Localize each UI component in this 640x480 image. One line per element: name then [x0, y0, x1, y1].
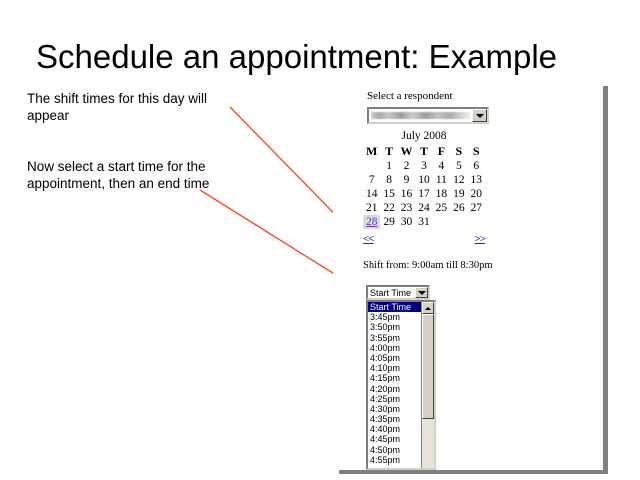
calendar-day-cell[interactable]: 14 [363, 187, 380, 201]
calendar-next-month-link[interactable]: >> [474, 233, 485, 245]
calendar-day-cell[interactable]: 25 [433, 201, 450, 215]
scrollbar-thumb[interactable] [422, 314, 434, 419]
calendar-weekday-row: M T W T F S S [363, 144, 485, 159]
calendar-day-cell[interactable]: 7 [363, 173, 380, 187]
calendar-weekday: M [363, 144, 380, 159]
presentation-slide: Schedule an appointment: Example The shi… [0, 0, 640, 480]
calendar-widget[interactable]: July 2008 M T W T F S S [363, 130, 493, 245]
chevron-down-icon[interactable] [415, 287, 428, 298]
list-item[interactable]: 4:50pm [368, 445, 421, 455]
calendar-day-cell[interactable]: 15 [380, 187, 397, 201]
start-time-option-list[interactable]: Start Time 3:45pm 3:50pm 3:55pm 4:00pm 4… [368, 302, 421, 468]
list-item[interactable]: 3:45pm [368, 312, 421, 322]
calendar-day-cell[interactable] [433, 215, 450, 229]
list-item[interactable]: 4:55pm [368, 455, 421, 465]
calendar-weekday: S [450, 144, 467, 159]
respondent-select[interactable] [367, 107, 489, 124]
calendar-day-cell[interactable]: 24 [415, 201, 432, 215]
calendar-prev-month-link[interactable]: << [363, 233, 374, 245]
calendar-day-cell[interactable]: 27 [468, 201, 485, 215]
calendar-day-cell[interactable]: 9 [398, 173, 415, 187]
list-item[interactable]: 4:00pm [368, 343, 421, 353]
list-item[interactable]: 4:10pm [368, 363, 421, 373]
calendar-week-row: 14 15 16 17 18 19 20 [363, 187, 485, 201]
respondent-label: Select a respondent [367, 90, 453, 102]
calendar-day-cell[interactable]: 6 [468, 159, 485, 173]
list-item[interactable]: 4:15pm [368, 373, 421, 383]
list-item[interactable]: 4:30pm [368, 404, 421, 414]
list-item[interactable]: 3:50pm [368, 322, 421, 332]
start-time-select[interactable]: Start Time [366, 285, 430, 300]
start-time-listbox[interactable]: Start Time 3:45pm 3:50pm 3:55pm 4:00pm 4… [366, 300, 436, 470]
calendar-day-cell[interactable] [468, 215, 485, 229]
calendar-navigation: << >> [363, 233, 485, 245]
page-title: Schedule an appointment: Example [36, 38, 616, 76]
calendar-week-row: 21 22 23 24 25 26 27 [363, 201, 485, 215]
calendar-day-cell[interactable]: 21 [363, 201, 380, 215]
embedded-screenshot-panel: Select a respondent July 2008 M T W T F … [333, 80, 603, 470]
calendar-day-cell[interactable]: 16 [398, 187, 415, 201]
calendar-weekday: F [433, 144, 450, 159]
calendar-day-cell[interactable]: 5 [450, 159, 467, 173]
list-item[interactable]: 4:45pm [368, 434, 421, 444]
calendar-day-cell[interactable]: 26 [450, 201, 467, 215]
calendar-day-cell[interactable] [363, 159, 380, 173]
calendar-day-cell[interactable]: 4 [433, 159, 450, 173]
list-item[interactable]: Start Time [368, 302, 421, 312]
calendar-day-cell[interactable]: 19 [450, 187, 467, 201]
chevron-up-icon[interactable] [422, 302, 434, 314]
respondent-selected-value [371, 112, 470, 119]
list-item[interactable]: 4:20pm [368, 384, 421, 394]
calendar-week-row: 1 2 3 4 5 6 [363, 159, 485, 173]
calendar-day-cell[interactable]: 22 [380, 201, 397, 215]
calendar-day-cell[interactable]: 11 [433, 173, 450, 187]
list-item[interactable]: 4:05pm [368, 353, 421, 363]
list-item[interactable]: 3:55pm [368, 333, 421, 343]
calendar-week-row: 28 29 30 31 [363, 215, 485, 229]
chevron-down-icon[interactable] [472, 109, 487, 122]
calendar-week-row: 7 8 9 10 11 12 13 [363, 173, 485, 187]
calendar-day-cell[interactable] [450, 215, 467, 229]
calendar-weekday: T [380, 144, 397, 159]
calendar-day-cell[interactable]: 12 [450, 173, 467, 187]
list-item[interactable]: 4:35pm [368, 414, 421, 424]
calendar-day-cell[interactable]: 17 [415, 187, 432, 201]
calendar-day-cell[interactable]: 13 [468, 173, 485, 187]
calendar-weekday: W [398, 144, 415, 159]
calendar-day-cell[interactable]: 3 [415, 159, 432, 173]
calendar-day-cell[interactable]: 1 [380, 159, 397, 173]
list-item[interactable]: 4:40pm [368, 424, 421, 434]
calendar-weekday: S [468, 144, 485, 159]
calendar-day-cell[interactable]: 30 [398, 215, 415, 229]
calendar-month-label: July 2008 [363, 130, 485, 144]
list-item[interactable]: 4:25pm [368, 394, 421, 404]
shift-hours-text: Shift from: 9:00am till 8:30pm [363, 260, 493, 271]
calendar-day-cell[interactable]: 29 [380, 215, 397, 229]
callout-text-select-start-time: Now select a start time for the appointm… [27, 158, 252, 192]
listbox-scrollbar[interactable] [421, 302, 434, 468]
calendar-day-cell[interactable]: 18 [433, 187, 450, 201]
scrollbar-track[interactable] [422, 314, 434, 468]
calendar-day-cell[interactable]: 23 [398, 201, 415, 215]
calendar-day-cell[interactable]: 8 [380, 173, 397, 187]
calendar-day-cell[interactable]: 10 [415, 173, 432, 187]
calendar-weekday: T [415, 144, 432, 159]
callout-text-shift-times: The shift times for this day will appear [27, 90, 247, 124]
start-time-selected-value: Start Time [368, 288, 415, 298]
calendar-grid[interactable]: M T W T F S S 1 2 3 4 [363, 144, 485, 229]
calendar-day-cell-selected[interactable]: 28 [363, 215, 380, 229]
calendar-day-cell[interactable]: 2 [398, 159, 415, 173]
calendar-day-cell[interactable]: 31 [415, 215, 432, 229]
calendar-day-cell[interactable]: 20 [468, 187, 485, 201]
